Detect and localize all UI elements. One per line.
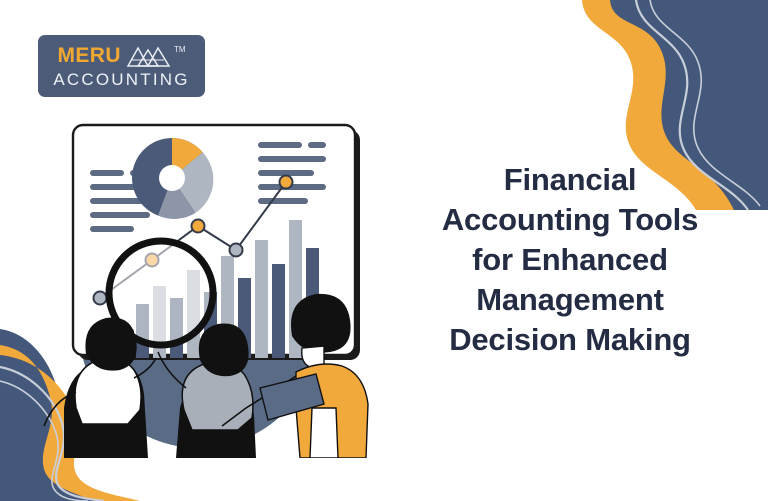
logo-word-meru: MERU xyxy=(58,45,121,67)
page-title: Financial Accounting Tools for Enhanced … xyxy=(386,160,754,360)
title-line-5: Decision Making xyxy=(386,320,754,360)
title-line-4: Management xyxy=(386,280,754,320)
brand-logo[interactable]: MERU TM ACCOUNTING xyxy=(38,35,205,97)
orange-shirt-hair xyxy=(291,294,351,353)
logo-trademark: TM xyxy=(174,46,186,54)
trend-point-1 xyxy=(94,292,107,305)
logo-top-row: MERU TM xyxy=(58,45,186,69)
title-line-1: Financial xyxy=(386,160,754,200)
donut-hole xyxy=(159,165,185,191)
logo-word-accounting: ACCOUNTING xyxy=(53,70,189,89)
mountain-peaks-icon xyxy=(126,45,172,67)
gray-sweater-hair xyxy=(199,323,249,376)
title-line-3: for Enhanced xyxy=(386,240,754,280)
trend-point-4 xyxy=(230,244,243,257)
title-line-2: Accounting Tools xyxy=(386,200,754,240)
orange-shirt-legs xyxy=(310,408,338,458)
white-shirt-hair xyxy=(85,317,136,370)
banner-root: MERU TM ACCOUNTING Financial Accounting … xyxy=(0,0,768,501)
business-analytics-team-illustration xyxy=(24,108,374,458)
trend-point-5 xyxy=(280,176,293,189)
trend-point-3 xyxy=(192,220,205,233)
